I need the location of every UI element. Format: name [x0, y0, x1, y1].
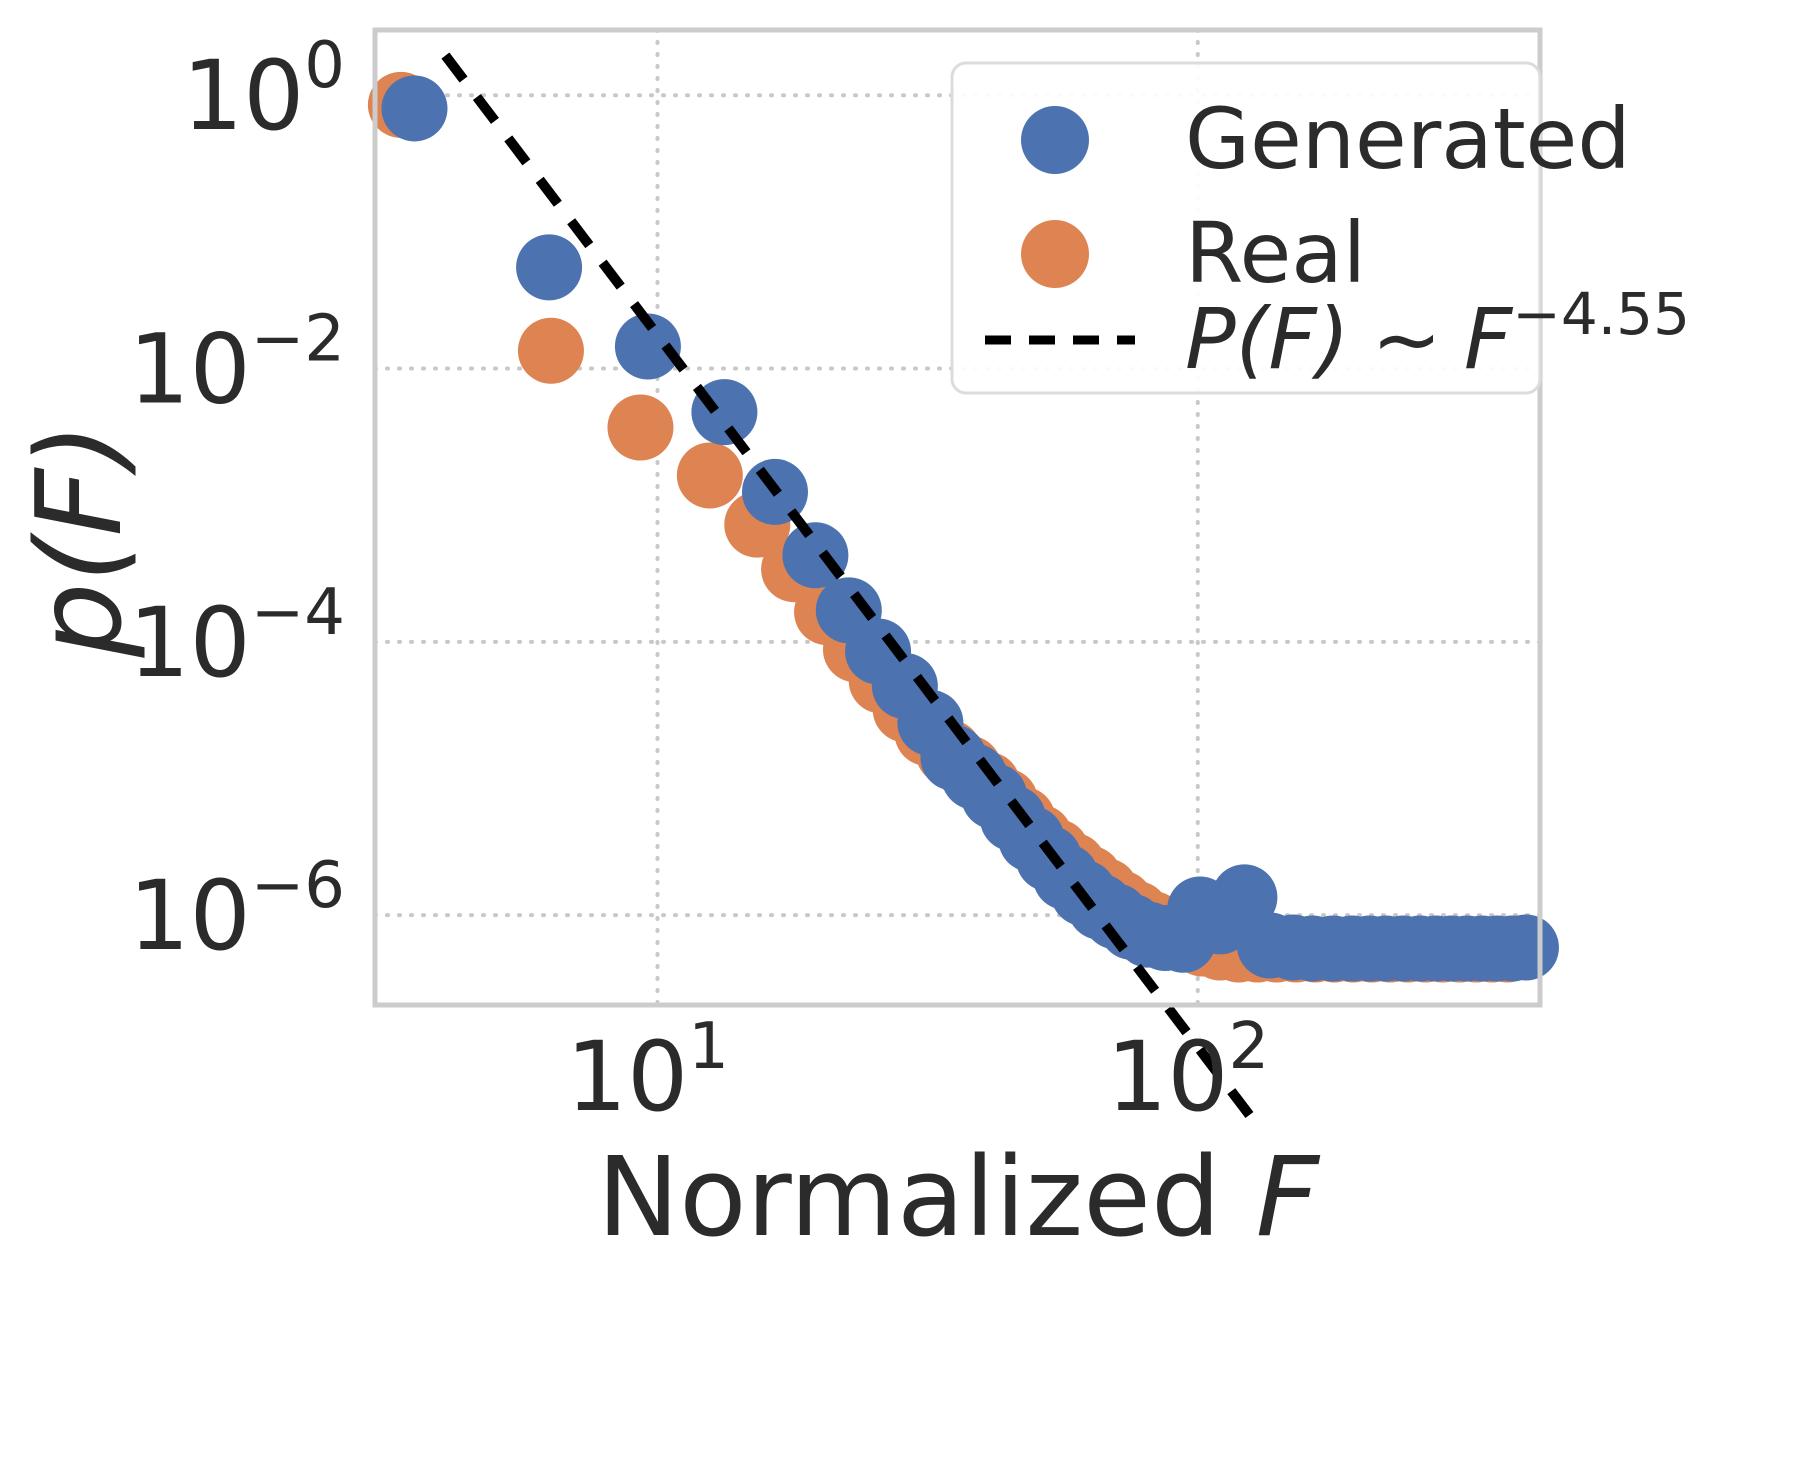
data-point — [518, 318, 584, 384]
x-tick-exponent: 2 — [1228, 1010, 1269, 1084]
x-tick-label-0: 101 — [566, 1010, 729, 1133]
figure-canvas: 10010−210−410−6 101102 p(F) Normalized F… — [0, 0, 1799, 1466]
data-point — [516, 234, 582, 300]
y-tick-mantissa: 10 — [182, 40, 304, 152]
x-axis-title: Normalized F — [597, 1133, 1321, 1261]
y-tick-exponent: −2 — [251, 303, 345, 377]
legend-marker-generated-icon — [1021, 106, 1089, 174]
legend-label-fit: P(F)~F−4.55 — [1185, 280, 1690, 388]
x-tick-mantissa: 10 — [1106, 1021, 1228, 1133]
y-tick-mantissa: 10 — [129, 860, 251, 972]
y-axis-title-F: F — [10, 466, 148, 536]
legend-label-generated: Generated — [1185, 90, 1631, 188]
legend-label-real: Real — [1185, 204, 1366, 302]
y-tick-label-3: 10−6 — [129, 849, 346, 972]
y-tick-exponent: −6 — [251, 849, 345, 923]
y-tick-mantissa: 10 — [129, 314, 251, 426]
y-axis-title: p(F) — [10, 423, 148, 659]
scatter-plot-svg: 10010−210−410−6 101102 p(F) Normalized F… — [0, 0, 1799, 1466]
y-axis-title-p: p — [10, 583, 148, 659]
x-tick-exponent: 1 — [688, 1010, 729, 1084]
y-tick-exponent: −4 — [251, 576, 345, 650]
svg-text:p(F): p(F) — [10, 423, 148, 659]
data-point — [381, 75, 447, 141]
y-tick-exponent: 0 — [304, 29, 345, 103]
legend-marker-real-icon — [1021, 220, 1089, 288]
svg-text:Normalized F: Normalized F — [597, 1133, 1321, 1261]
data-point — [677, 442, 743, 508]
y-axis-title-open: ( — [10, 532, 148, 583]
y-axis-title-close: ) — [10, 423, 148, 477]
legend-fit-base: F — [1464, 290, 1514, 388]
y-tick-label-1: 10−2 — [129, 303, 346, 426]
x-axis-title-italic: F — [1256, 1133, 1321, 1261]
legend-fit-prefix: P(F) — [1185, 290, 1350, 388]
data-point — [782, 522, 848, 588]
legend-fit-exponent: −4.55 — [1512, 280, 1690, 348]
y-tick-label-0: 100 — [182, 29, 345, 152]
legend-fit-tilde: ~ — [1372, 290, 1442, 388]
y-axis-tick-labels: 10010−210−410−6 — [129, 29, 346, 972]
y-tick-label-2: 10−4 — [129, 576, 346, 699]
x-axis-tick-labels: 101102 — [566, 1010, 1269, 1133]
x-tick-mantissa: 10 — [566, 1021, 688, 1133]
x-axis-title-text: Normalized — [597, 1133, 1221, 1261]
legend[interactable]: Generated Real P(F)~F−4.55 — [952, 63, 1690, 393]
data-point — [607, 395, 673, 461]
data-point — [1493, 914, 1559, 980]
